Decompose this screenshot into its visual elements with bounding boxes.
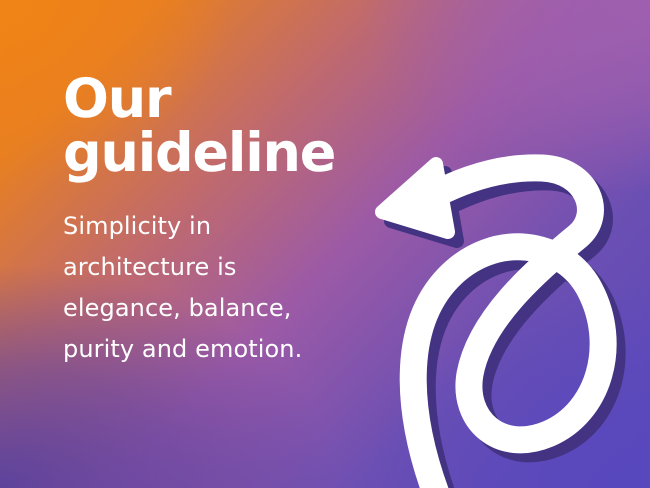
curled-arrow-icon — [352, 112, 650, 488]
body-paragraph: Simplicity in architecture is elegance, … — [63, 180, 363, 370]
slide-canvas: Our guideline Simplicity in architecture… — [0, 0, 650, 488]
page-title: Our guideline — [63, 72, 363, 180]
text-block: Our guideline Simplicity in architecture… — [63, 72, 363, 370]
